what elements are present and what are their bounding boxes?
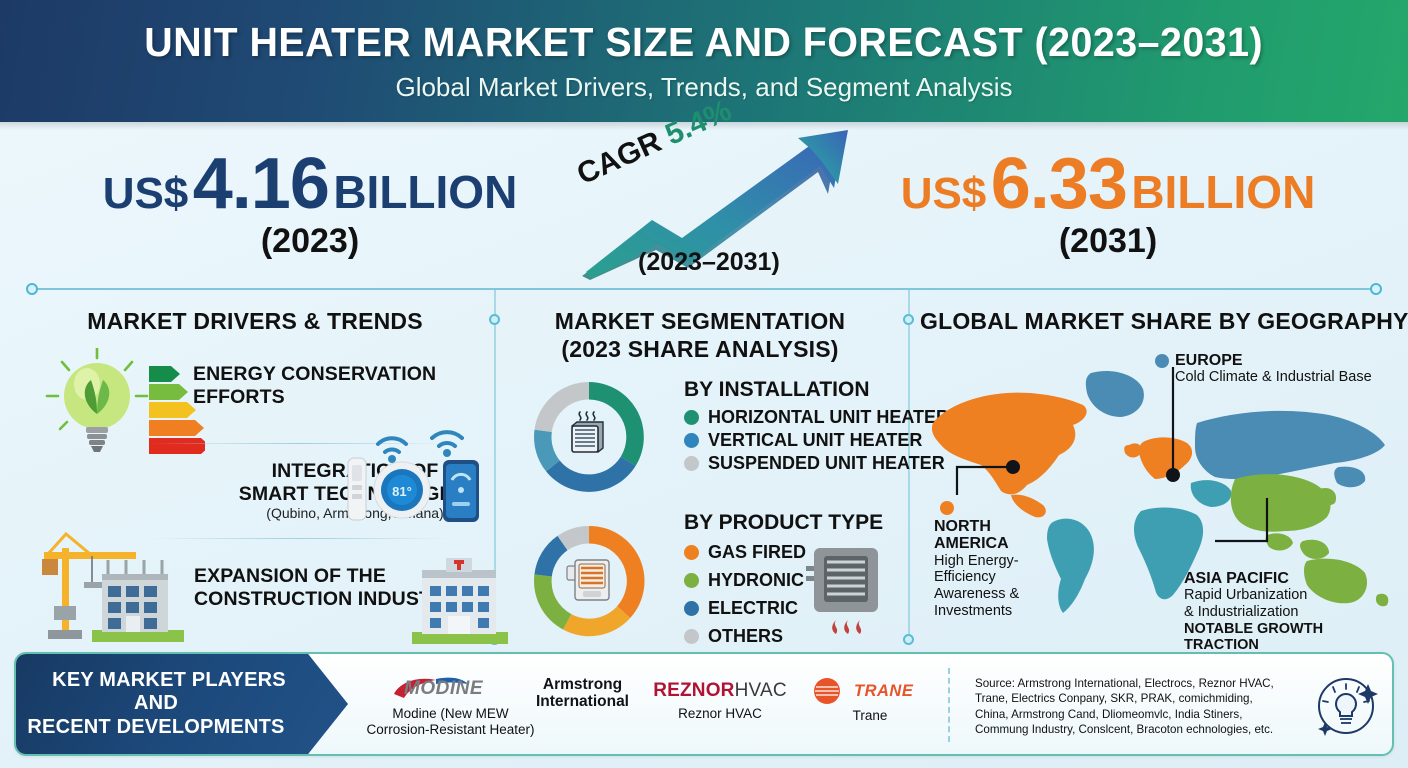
source-text: Source: Armstrong International, Electro… [975, 676, 1300, 737]
key-players-tag-line1: KEY MARKET PLAYERS AND [52, 669, 286, 714]
geo-north-america-desc-line2: Efficiency [934, 569, 1054, 586]
modine-caption-line1: Modine (New MEW [358, 706, 543, 722]
legend-swatch-horizontal [684, 410, 699, 425]
infographic-page: UNIT HEATER MARKET SIZE AND FORECAST (20… [0, 0, 1408, 768]
legend-label-hydronic: HYDRONIC [708, 570, 804, 591]
by-installation-heading: BY INSTALLATION [684, 378, 870, 402]
legend-item: VERTICAL UNIT HEATER [684, 429, 949, 452]
stat-2023-unit: US$ [103, 169, 189, 218]
unit-heater-illustration-icon [800, 540, 886, 640]
geo-north-america: NORTH AMERICA High Energy- Efficiency Aw… [934, 518, 1054, 619]
stat-2031: US$ 6.33 BILLION (2031) [848, 148, 1368, 261]
geo-asia-pacific-desc-line2: & Industrialization [1184, 604, 1399, 621]
segmentation-title-line1: MARKET SEGMENTATION [500, 308, 900, 335]
stat-2031-value: 6.33 [991, 144, 1127, 224]
geo-europe-name: EUROPE [1175, 352, 1372, 369]
geo-europe-desc: Cold Climate & Industrial Base [1175, 369, 1372, 386]
stat-2031-word: BILLION [1131, 166, 1315, 218]
stat-2023-word: BILLION [333, 166, 517, 218]
legend-swatch-electric [684, 601, 699, 616]
modine-caption-line2: Corrosion-Resistant Heater) [358, 722, 543, 738]
commercial-building-icon [404, 548, 514, 646]
construction-crane-icon [30, 530, 195, 648]
legend-label-gas-fired: GAS FIRED [708, 542, 806, 563]
legend-label-others: OTHERS [708, 626, 783, 647]
player-reznor: REZNORHVAC Reznor HVAC [640, 680, 800, 722]
key-players-tag-line2: RECENT DEVELOPMENTS [27, 716, 310, 738]
legend-item: HYDRONIC [684, 566, 806, 594]
reznor-logo-text: REZNOR [653, 680, 734, 701]
player-modine: MODINE Modine (New MEW Corrosion-Resista… [358, 676, 543, 738]
modine-logo-text: MODINE [404, 678, 483, 700]
svg-text:81°: 81° [392, 484, 412, 499]
legend-label-electric: ELECTRIC [708, 598, 798, 619]
geo-north-america-desc-line3: Awareness & [934, 586, 1054, 603]
legend-item: SUSPENDED UNIT HEATER [684, 452, 949, 475]
source-line-2: Trane, Electrics Conpany, SKR, PRAK, com… [975, 691, 1300, 706]
legend-item: HORIZONTAL UNIT HEATER [684, 406, 949, 429]
energy-bulb-icon [45, 348, 205, 454]
column-divider-2-top-dot [903, 314, 914, 325]
legend-label-suspended: SUSPENDED UNIT HEATER [708, 453, 945, 474]
geo-asia-pacific-name: ASIA PACIFIC [1184, 570, 1399, 587]
by-product-type-legend: GAS FIRED HYDRONIC ELECTRIC OTHERS [684, 538, 806, 650]
legend-item: OTHERS [684, 622, 806, 650]
trane-logo-text: TRANE [854, 682, 913, 701]
geography-column-title: GLOBAL MARKET SHARE BY GEOGRAPHY [920, 308, 1398, 335]
north-america-pin-icon [940, 501, 954, 515]
stat-2023-value: 4.16 [193, 144, 329, 224]
cagr-block: CAGR 5.4% (2023–2031) [576, 130, 856, 280]
trane-logo-icon [810, 678, 844, 704]
by-installation-legend: HORIZONTAL UNIT HEATER VERTICAL UNIT HEA… [684, 406, 949, 475]
reznor-caption: Reznor HVAC [640, 706, 800, 722]
stat-2031-unit: US$ [901, 169, 987, 218]
geo-north-america-name-line2: AMERICA [934, 535, 1054, 552]
cagr-years: (2023–2031) [638, 248, 780, 277]
armstrong-logo-line2: International [520, 693, 645, 710]
stat-2023: US$ 4.16 BILLION (2023) [60, 148, 560, 261]
product-type-donut-chart [519, 518, 659, 644]
legend-label-vertical: VERTICAL UNIT HEATER [708, 430, 922, 451]
top-divider [30, 288, 1378, 290]
driver-1-line1: ENERGY CONSERVATION [193, 363, 436, 386]
smart-thermostat-icon: 81° [340, 418, 488, 528]
stat-2031-year: (2031) [848, 222, 1368, 261]
geo-asia-pacific: ASIA PACIFIC Rapid Urbanization & Indust… [1184, 570, 1399, 654]
reznor-logo-suffix: HVAC [735, 680, 787, 701]
by-product-type-heading: BY PRODUCT TYPE [684, 511, 883, 535]
legend-item: GAS FIRED [684, 538, 806, 566]
player-armstrong: Armstrong International [520, 676, 645, 710]
legend-item: ELECTRIC [684, 594, 806, 622]
driver-1-text: ENERGY CONSERVATION EFFORTS [193, 363, 436, 408]
geo-asia-pacific-desc-line1: Rapid Urbanization [1184, 587, 1399, 604]
page-title: UNIT HEATER MARKET SIZE AND FORECAST (20… [145, 19, 1264, 66]
source-divider [948, 668, 950, 742]
player-trane: TRANE Trane [800, 678, 940, 724]
legend-swatch-others [684, 629, 699, 644]
legend-swatch-hydronic [684, 573, 699, 588]
europe-pin-icon [1155, 354, 1169, 368]
legend-swatch-gas-fired [684, 545, 699, 560]
source-line-4: Commung Industry, Conslcent, Bracoton ec… [975, 722, 1300, 737]
stat-2023-year: (2023) [60, 222, 560, 261]
divider-node-right [1370, 283, 1382, 295]
driver-1-line2: EFFORTS [193, 386, 436, 409]
segmentation-title-line2: (2023 SHARE ANALYSIS) [500, 336, 900, 363]
source-line-3: China, Armstrong Cand, Dliomeomvlc, Indi… [975, 707, 1300, 722]
geo-north-america-name-line1: NORTH [934, 518, 1054, 535]
geo-north-america-desc-line1: High Energy- [934, 553, 1054, 570]
page-subtitle: Global Market Drivers, Trends, and Segme… [395, 72, 1012, 103]
lightbulb-idea-icon [1310, 672, 1384, 740]
armstrong-logo-line1: Armstrong [520, 676, 645, 693]
geo-asia-pacific-strong: NOTABLE GROWTH TRACTION [1184, 621, 1399, 654]
drivers-column-title: MARKET DRIVERS & TRENDS [30, 308, 480, 335]
legend-swatch-vertical [684, 433, 699, 448]
source-line-1: Source: Armstrong International, Electro… [975, 676, 1300, 691]
column-divider-2-bottom-dot [903, 634, 914, 645]
trane-caption: Trane [800, 708, 940, 724]
key-players-tag: KEY MARKET PLAYERS AND RECENT DEVELOPMEN… [16, 654, 348, 754]
legend-label-horizontal: HORIZONTAL UNIT HEATER [708, 407, 949, 428]
geo-europe: EUROPE Cold Climate & Industrial Base [1175, 352, 1372, 386]
geo-north-america-desc-line4: Investments [934, 603, 1054, 620]
installation-donut-chart [519, 376, 659, 498]
column-divider-1-top-dot [489, 314, 500, 325]
divider-node-left [26, 283, 38, 295]
legend-swatch-suspended [684, 456, 699, 471]
driver-divider-2 [150, 538, 450, 539]
